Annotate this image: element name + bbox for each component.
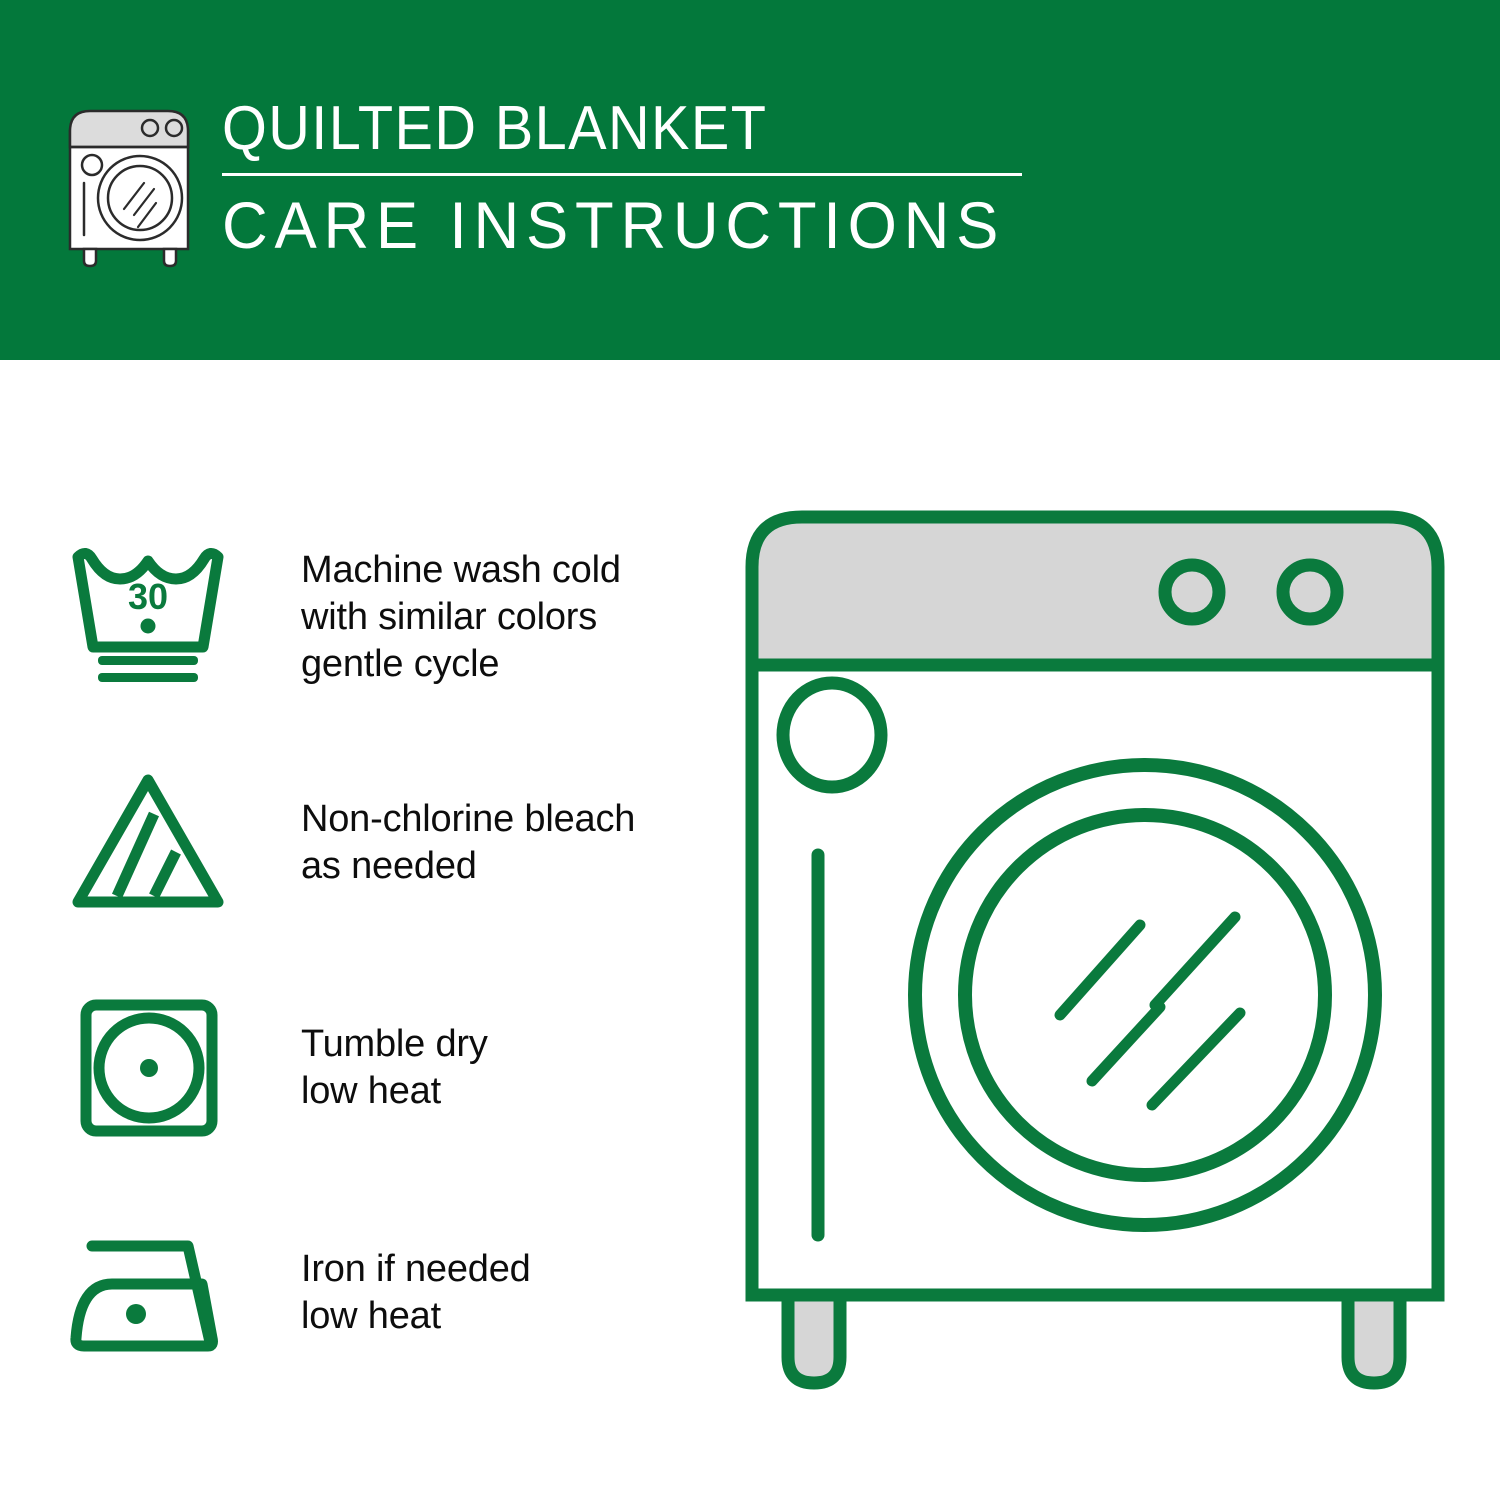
care-label-iron: Iron if needed low heat (301, 1246, 531, 1340)
care-instruction-list: 30 Machine wash cold with similar colors… (70, 505, 720, 1405)
front-load-washing-machine-illustration (740, 495, 1450, 1415)
tumble-dry-low-icon (70, 993, 235, 1143)
machine-leg-left (788, 1295, 840, 1383)
page-title-primary: QUILTED BLANKET (222, 95, 981, 163)
header-band: QUILTED BLANKET CARE INSTRUCTIONS (0, 0, 1500, 360)
care-label-bleach: Non-chlorine bleach as needed (301, 796, 635, 890)
non-chlorine-bleach-icon (70, 768, 235, 918)
machine-leg-right (1348, 1295, 1400, 1383)
care-row-machine-wash: 30 Machine wash cold with similar colors… (70, 505, 720, 730)
page-title-secondary: CARE INSTRUCTIONS (222, 188, 1005, 262)
washing-machine-icon (60, 103, 200, 268)
care-row-bleach: Non-chlorine bleach as needed (70, 730, 720, 955)
header-content: QUILTED BLANKET CARE INSTRUCTIONS (60, 95, 1038, 268)
svg-text:30: 30 (128, 576, 168, 617)
title-divider (222, 173, 1022, 176)
care-label-tumble-dry: Tumble dry low heat (301, 1021, 488, 1115)
machine-wash-30-gentle-icon: 30 (70, 543, 235, 693)
iron-low-heat-icon (70, 1218, 235, 1368)
care-label-machine-wash: Machine wash cold with similar colors ge… (301, 547, 621, 688)
care-row-tumble-dry: Tumble dry low heat (70, 955, 720, 1180)
header-title-block: QUILTED BLANKET CARE INSTRUCTIONS (222, 95, 1038, 262)
care-row-iron: Iron if needed low heat (70, 1180, 720, 1405)
